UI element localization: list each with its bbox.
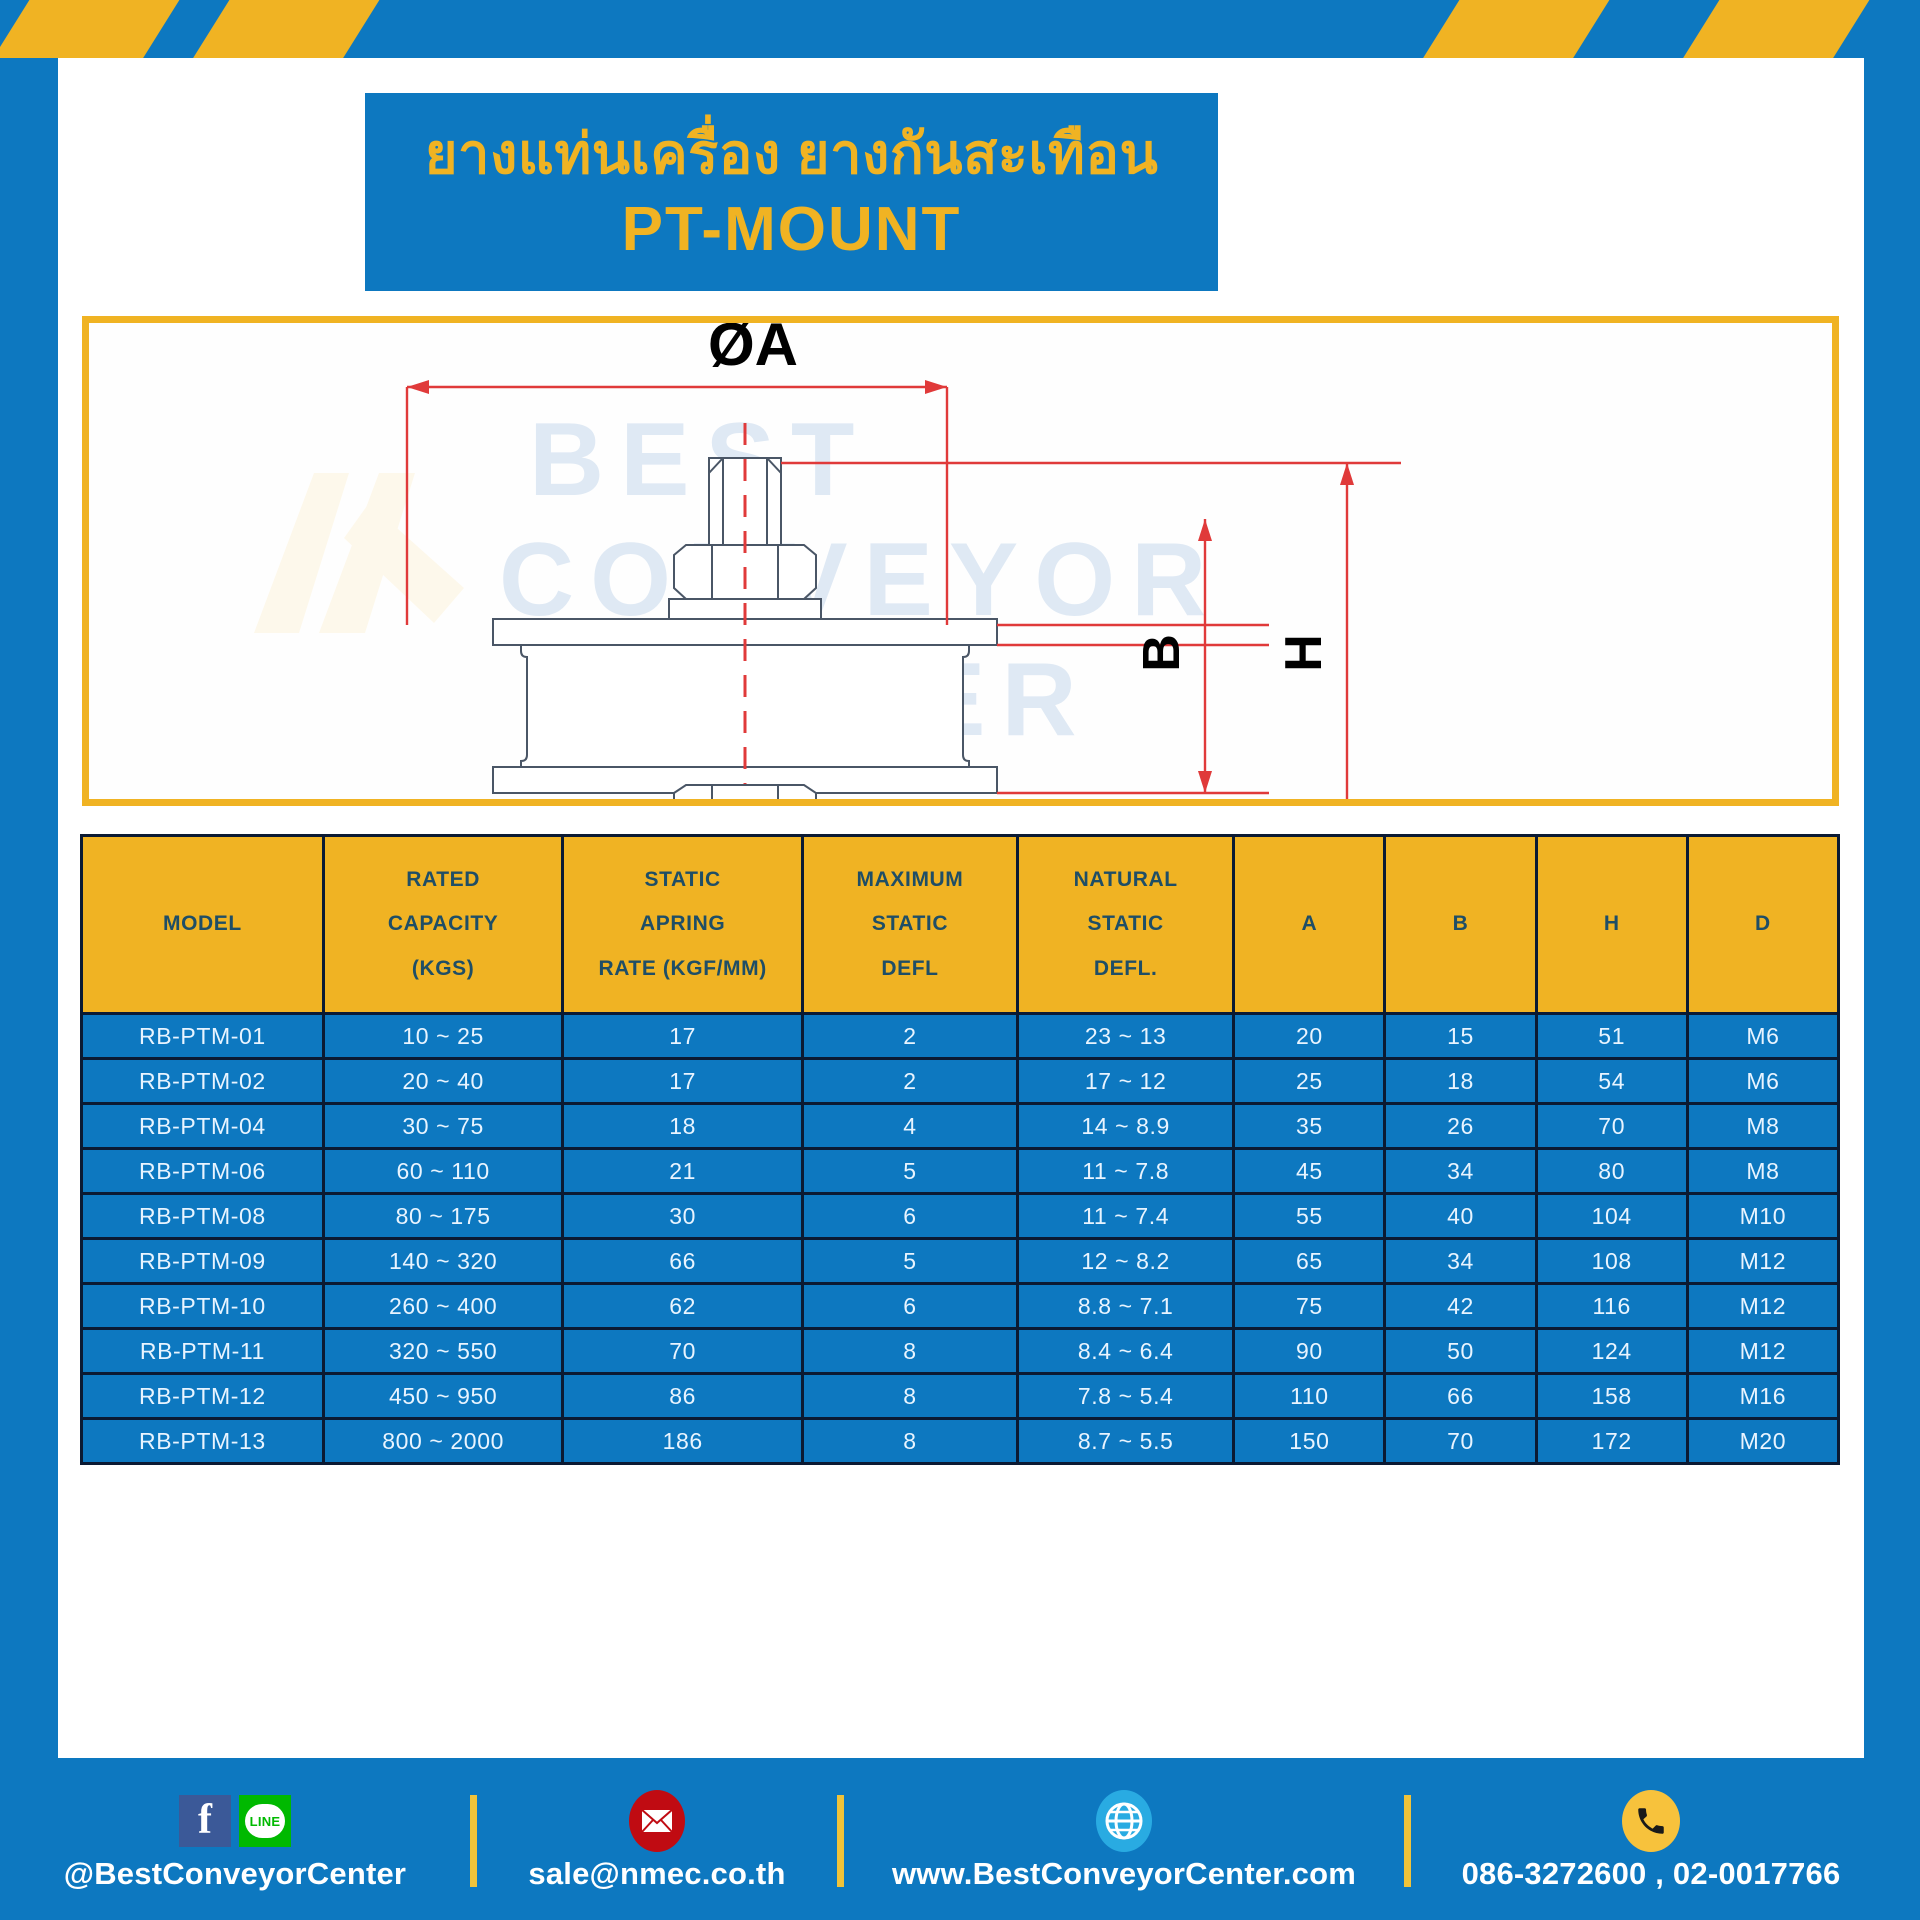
footer-social[interactable]: f LINE @BestConveyorCenter xyxy=(0,1790,470,1892)
cell-value: M6 xyxy=(1687,1059,1838,1104)
cell-value: 40 xyxy=(1385,1194,1536,1239)
cell-value: 450 ~ 950 xyxy=(323,1374,563,1419)
email-icon[interactable] xyxy=(629,1790,685,1852)
table-row: RB-PTM-13800 ~ 200018688.7 ~ 5.515070172… xyxy=(82,1419,1839,1464)
cell-value: 90 xyxy=(1234,1329,1385,1374)
cell-value: 34 xyxy=(1385,1149,1536,1194)
cell-value: 35 xyxy=(1234,1104,1385,1149)
table-row: RB-PTM-0110 ~ 2517223 ~ 13201551M6 xyxy=(82,1014,1839,1059)
cell-value: 8 xyxy=(802,1419,1017,1464)
cell-value: 66 xyxy=(1385,1374,1536,1419)
cell-value: 60 ~ 110 xyxy=(323,1149,563,1194)
cell-value: 70 xyxy=(563,1329,803,1374)
cell-value: M12 xyxy=(1687,1284,1838,1329)
cell-model: RB-PTM-11 xyxy=(82,1329,324,1374)
cell-value: 65 xyxy=(1234,1239,1385,1284)
cell-value: 20 xyxy=(1234,1014,1385,1059)
mount-drawing: ØA B H E xyxy=(89,323,1832,799)
cell-value: 55 xyxy=(1234,1194,1385,1239)
cell-value: 70 xyxy=(1385,1419,1536,1464)
cell-value: 86 xyxy=(563,1374,803,1419)
cell-value: 8.8 ~ 7.1 xyxy=(1018,1284,1234,1329)
cell-value: 17 xyxy=(563,1059,803,1104)
cell-value: 2 xyxy=(802,1059,1017,1104)
cell-value: 140 ~ 320 xyxy=(323,1239,563,1284)
poster-root: ยางแท่นเครื่อง ยางกันสะเทือน PT-MOUNT BE… xyxy=(0,0,1920,1920)
cell-value: 8.4 ~ 6.4 xyxy=(1018,1329,1234,1374)
cell-value: 62 xyxy=(563,1284,803,1329)
cell-model: RB-PTM-10 xyxy=(82,1284,324,1329)
cell-value: M12 xyxy=(1687,1329,1838,1374)
cell-value: 10 ~ 25 xyxy=(323,1014,563,1059)
col-header-b: B xyxy=(1385,836,1536,1014)
stripe-3 xyxy=(1417,0,1613,58)
cell-value: 30 ~ 75 xyxy=(323,1104,563,1149)
cell-value: 30 xyxy=(563,1194,803,1239)
stripe-1 xyxy=(0,0,183,58)
cell-model: RB-PTM-08 xyxy=(82,1194,324,1239)
cell-value: 320 ~ 550 xyxy=(323,1329,563,1374)
envelope-glyph xyxy=(640,1808,674,1834)
cell-value: 54 xyxy=(1536,1059,1687,1104)
cell-value: 80 xyxy=(1536,1149,1687,1194)
cell-value: 5 xyxy=(802,1239,1017,1284)
stripe-4 xyxy=(1677,0,1873,58)
cell-value: 17 xyxy=(563,1014,803,1059)
footer-phone[interactable]: 086-3272600 , 02-0017766 xyxy=(1411,1790,1891,1892)
col-header-natural-static-defl: NATURAL STATIC DEFL. xyxy=(1018,836,1234,1014)
title-thai: ยางแท่นเครื่อง ยางกันสะเทือน xyxy=(425,125,1159,184)
table-row: RB-PTM-12450 ~ 9508687.8 ~ 5.411066158M1… xyxy=(82,1374,1839,1419)
cell-model: RB-PTM-06 xyxy=(82,1149,324,1194)
cell-value: 5 xyxy=(802,1149,1017,1194)
table-row: RB-PTM-10260 ~ 4006268.8 ~ 7.17542116M12 xyxy=(82,1284,1839,1329)
cell-value: 6 xyxy=(802,1284,1017,1329)
col-header-maximum-static-defl: MAXIMUM STATIC DEFL xyxy=(802,836,1017,1014)
globe-glyph xyxy=(1104,1801,1144,1841)
table-row: RB-PTM-0220 ~ 4017217 ~ 12251854M6 xyxy=(82,1059,1839,1104)
footer-contact-bar: f LINE @BestConveyorCenter sale@nmec.co.… xyxy=(0,1762,1920,1920)
cell-value: 12 ~ 8.2 xyxy=(1018,1239,1234,1284)
cell-value: 26 xyxy=(1385,1104,1536,1149)
table-row: RB-PTM-0880 ~ 17530611 ~ 7.45540104M10 xyxy=(82,1194,1839,1239)
globe-icon[interactable] xyxy=(1096,1790,1152,1852)
footer-divider-3 xyxy=(1404,1795,1411,1887)
cell-value: M12 xyxy=(1687,1239,1838,1284)
cell-value: M8 xyxy=(1687,1104,1838,1149)
col-header-h: H xyxy=(1536,836,1687,1014)
cell-value: 158 xyxy=(1536,1374,1687,1419)
cell-value: 34 xyxy=(1385,1239,1536,1284)
content-card: ยางแท่นเครื่อง ยางกันสะเทือน PT-MOUNT BE… xyxy=(58,58,1864,1758)
title-banner: ยางแท่นเครื่อง ยางกันสะเทือน PT-MOUNT xyxy=(365,93,1218,291)
cell-value: 20 ~ 40 xyxy=(323,1059,563,1104)
technical-drawing-frame: BEST CONVEYOR CENTER xyxy=(82,316,1839,806)
cell-value: 11 ~ 7.4 xyxy=(1018,1194,1234,1239)
cell-model: RB-PTM-09 xyxy=(82,1239,324,1284)
table-row: RB-PTM-09140 ~ 32066512 ~ 8.26534108M12 xyxy=(82,1239,1839,1284)
table-row: RB-PTM-0660 ~ 11021511 ~ 7.8453480M8 xyxy=(82,1149,1839,1194)
stripe-2 xyxy=(187,0,383,58)
cell-value: 150 xyxy=(1234,1419,1385,1464)
cell-value: 70 xyxy=(1536,1104,1687,1149)
cell-value: 6 xyxy=(802,1194,1017,1239)
cell-value: 110 xyxy=(1234,1374,1385,1419)
cell-value: 80 ~ 175 xyxy=(323,1194,563,1239)
table-row: RB-PTM-0430 ~ 7518414 ~ 8.9352670M8 xyxy=(82,1104,1839,1149)
cell-model: RB-PTM-01 xyxy=(82,1014,324,1059)
cell-value: 8 xyxy=(802,1374,1017,1419)
cell-value: M10 xyxy=(1687,1194,1838,1239)
phone-glyph xyxy=(1634,1804,1668,1838)
cell-value: M16 xyxy=(1687,1374,1838,1419)
footer-divider-2 xyxy=(837,1795,844,1887)
cell-value: 18 xyxy=(1385,1059,1536,1104)
cell-value: 17 ~ 12 xyxy=(1018,1059,1234,1104)
cell-value: 800 ~ 2000 xyxy=(323,1419,563,1464)
cell-value: 124 xyxy=(1536,1329,1687,1374)
title-english: PT-MOUNT xyxy=(622,194,962,265)
footer-website-label: www.BestConveyorCenter.com xyxy=(892,1856,1356,1892)
cell-model: RB-PTM-12 xyxy=(82,1374,324,1419)
cell-value: M6 xyxy=(1687,1014,1838,1059)
cell-value: 15 xyxy=(1385,1014,1536,1059)
cell-value: 11 ~ 7.8 xyxy=(1018,1149,1234,1194)
cell-value: 108 xyxy=(1536,1239,1687,1284)
col-header-d: D xyxy=(1687,836,1838,1014)
footer-divider-1 xyxy=(470,1795,477,1887)
cell-model: RB-PTM-02 xyxy=(82,1059,324,1104)
col-header-a: A xyxy=(1234,836,1385,1014)
cell-value: M8 xyxy=(1687,1149,1838,1194)
cell-value: 45 xyxy=(1234,1149,1385,1194)
cell-value: 23 ~ 13 xyxy=(1018,1014,1234,1059)
cell-value: 260 ~ 400 xyxy=(323,1284,563,1329)
cell-model: RB-PTM-13 xyxy=(82,1419,324,1464)
cell-value: 116 xyxy=(1536,1284,1687,1329)
table-row: RB-PTM-11320 ~ 5507088.4 ~ 6.49050124M12 xyxy=(82,1329,1839,1374)
cell-value: 8.7 ~ 5.5 xyxy=(1018,1419,1234,1464)
cell-value: M20 xyxy=(1687,1419,1838,1464)
cell-value: 66 xyxy=(563,1239,803,1284)
label-b: B xyxy=(1133,634,1191,672)
cell-value: 14 ~ 8.9 xyxy=(1018,1104,1234,1149)
cell-value: 50 xyxy=(1385,1329,1536,1374)
footer-social-label: @BestConveyorCenter xyxy=(64,1856,406,1892)
cell-value: 104 xyxy=(1536,1194,1687,1239)
top-decorative-band xyxy=(0,0,1920,58)
label-h: H xyxy=(1275,634,1333,672)
line-icon[interactable]: LINE xyxy=(239,1795,291,1847)
table-header-row: MODEL RATED CAPACITY (KGS) STATIC APRING… xyxy=(82,836,1839,1014)
cell-value: 42 xyxy=(1385,1284,1536,1329)
cell-value: 75 xyxy=(1234,1284,1385,1329)
cell-value: 21 xyxy=(563,1149,803,1194)
cell-value: 8 xyxy=(802,1329,1017,1374)
footer-website[interactable]: www.BestConveyorCenter.com xyxy=(844,1790,1404,1892)
cell-value: 2 xyxy=(802,1014,1017,1059)
cell-model: RB-PTM-04 xyxy=(82,1104,324,1149)
footer-email[interactable]: sale@nmec.co.th xyxy=(477,1790,837,1892)
label-diameter: ØA xyxy=(708,323,798,378)
cell-value: 7.8 ~ 5.4 xyxy=(1018,1374,1234,1419)
table-body: RB-PTM-0110 ~ 2517223 ~ 13201551M6RB-PTM… xyxy=(82,1014,1839,1464)
cell-value: 186 xyxy=(563,1419,803,1464)
cell-value: 18 xyxy=(563,1104,803,1149)
cell-value: 4 xyxy=(802,1104,1017,1149)
col-header-model: MODEL xyxy=(82,836,324,1014)
phone-icon[interactable] xyxy=(1622,1790,1680,1852)
footer-email-label: sale@nmec.co.th xyxy=(528,1856,785,1892)
cell-value: 172 xyxy=(1536,1419,1687,1464)
col-header-static-spring-rate: STATIC APRING RATE (KGF/MM) xyxy=(563,836,803,1014)
specification-table: MODEL RATED CAPACITY (KGS) STATIC APRING… xyxy=(80,834,1840,1465)
facebook-icon[interactable]: f xyxy=(179,1795,231,1847)
footer-phone-label: 086-3272600 , 02-0017766 xyxy=(1462,1856,1841,1892)
col-header-rated-capacity: RATED CAPACITY (KGS) xyxy=(323,836,563,1014)
cell-value: 25 xyxy=(1234,1059,1385,1104)
cell-value: 51 xyxy=(1536,1014,1687,1059)
